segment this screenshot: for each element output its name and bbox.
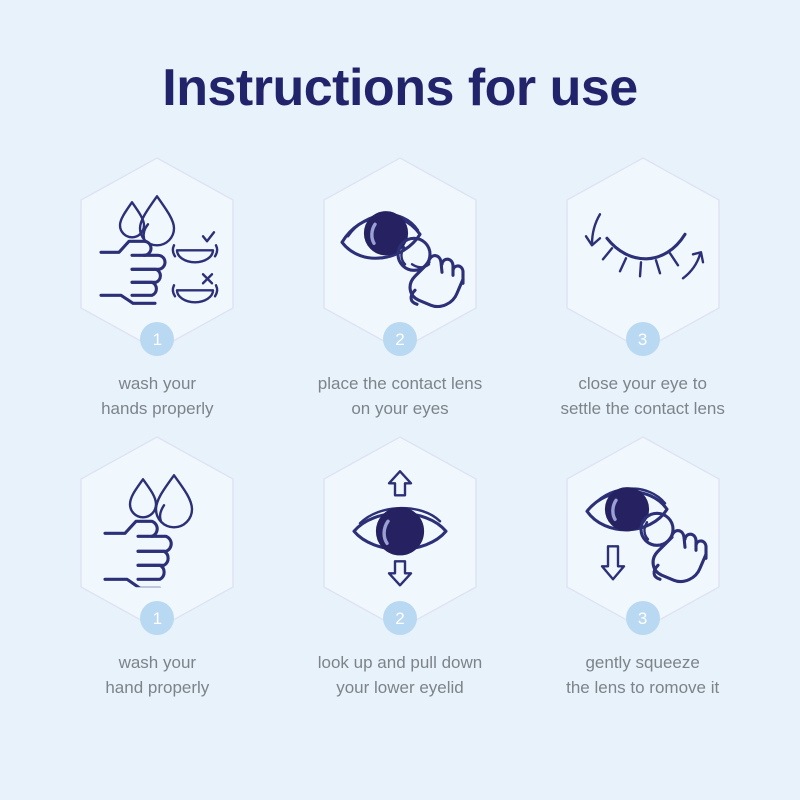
step-badge: 3 (626, 322, 660, 356)
step-item: 1 wash your hand properly (36, 433, 279, 700)
caption-line: your lower eyelid (318, 676, 482, 701)
caption-line: look up and pull down (318, 651, 482, 676)
step-tile-5: 2 (314, 433, 486, 633)
step-badge: 1 (140, 601, 174, 635)
caption-line: hands properly (101, 397, 213, 422)
caption-line: gently squeeze (566, 651, 719, 676)
caption-line: wash your (101, 372, 213, 397)
step-item: 3 gently squeeze the lens to romove it (521, 433, 764, 700)
step-tile-6: 3 (557, 433, 729, 633)
steps-grid: 1 wash your hands properly (0, 154, 800, 701)
step-tile-3: 3 (557, 154, 729, 354)
step-item: 3 close your eye to settle the contact l… (521, 154, 764, 421)
finger-removing-lens-icon (577, 470, 709, 588)
caption-line: settle the contact lens (560, 397, 724, 422)
hand-washing-with-lens-check-icon (91, 190, 223, 308)
step-caption: place the contact lens on your eyes (318, 372, 482, 421)
caption-line: the lens to romove it (566, 676, 719, 701)
step-tile-4: 1 (71, 433, 243, 633)
step-tile-1: 1 (71, 154, 243, 354)
instructions-infographic: Instructions for use (0, 0, 800, 800)
step-caption: close your eye to settle the contact len… (560, 372, 724, 421)
step-badge: 3 (626, 601, 660, 635)
eye-with-up-down-arrows-icon (334, 470, 466, 588)
step-badge: 2 (383, 322, 417, 356)
step-item: 2 place the contact lens on your eyes (279, 154, 522, 421)
step-item: 2 look up and pull down your lower eyeli… (279, 433, 522, 700)
caption-line: place the contact lens (318, 372, 482, 397)
step-caption: wash your hands properly (101, 372, 213, 421)
closed-eye-with-arrows-icon (577, 190, 709, 308)
step-caption: gently squeeze the lens to romove it (566, 651, 719, 700)
finger-placing-lens-on-eye-icon (334, 190, 466, 308)
step-badge: 2 (383, 601, 417, 635)
caption-line: close your eye to (560, 372, 724, 397)
step-tile-2: 2 (314, 154, 486, 354)
step-caption: look up and pull down your lower eyelid (318, 651, 482, 700)
caption-line: on your eyes (318, 397, 482, 422)
hand-washing-icon (91, 470, 223, 588)
step-caption: wash your hand properly (105, 651, 209, 700)
caption-line: hand properly (105, 676, 209, 701)
page-title: Instructions for use (0, 0, 800, 114)
caption-line: wash your (105, 651, 209, 676)
step-badge: 1 (140, 322, 174, 356)
step-item: 1 wash your hands properly (36, 154, 279, 421)
